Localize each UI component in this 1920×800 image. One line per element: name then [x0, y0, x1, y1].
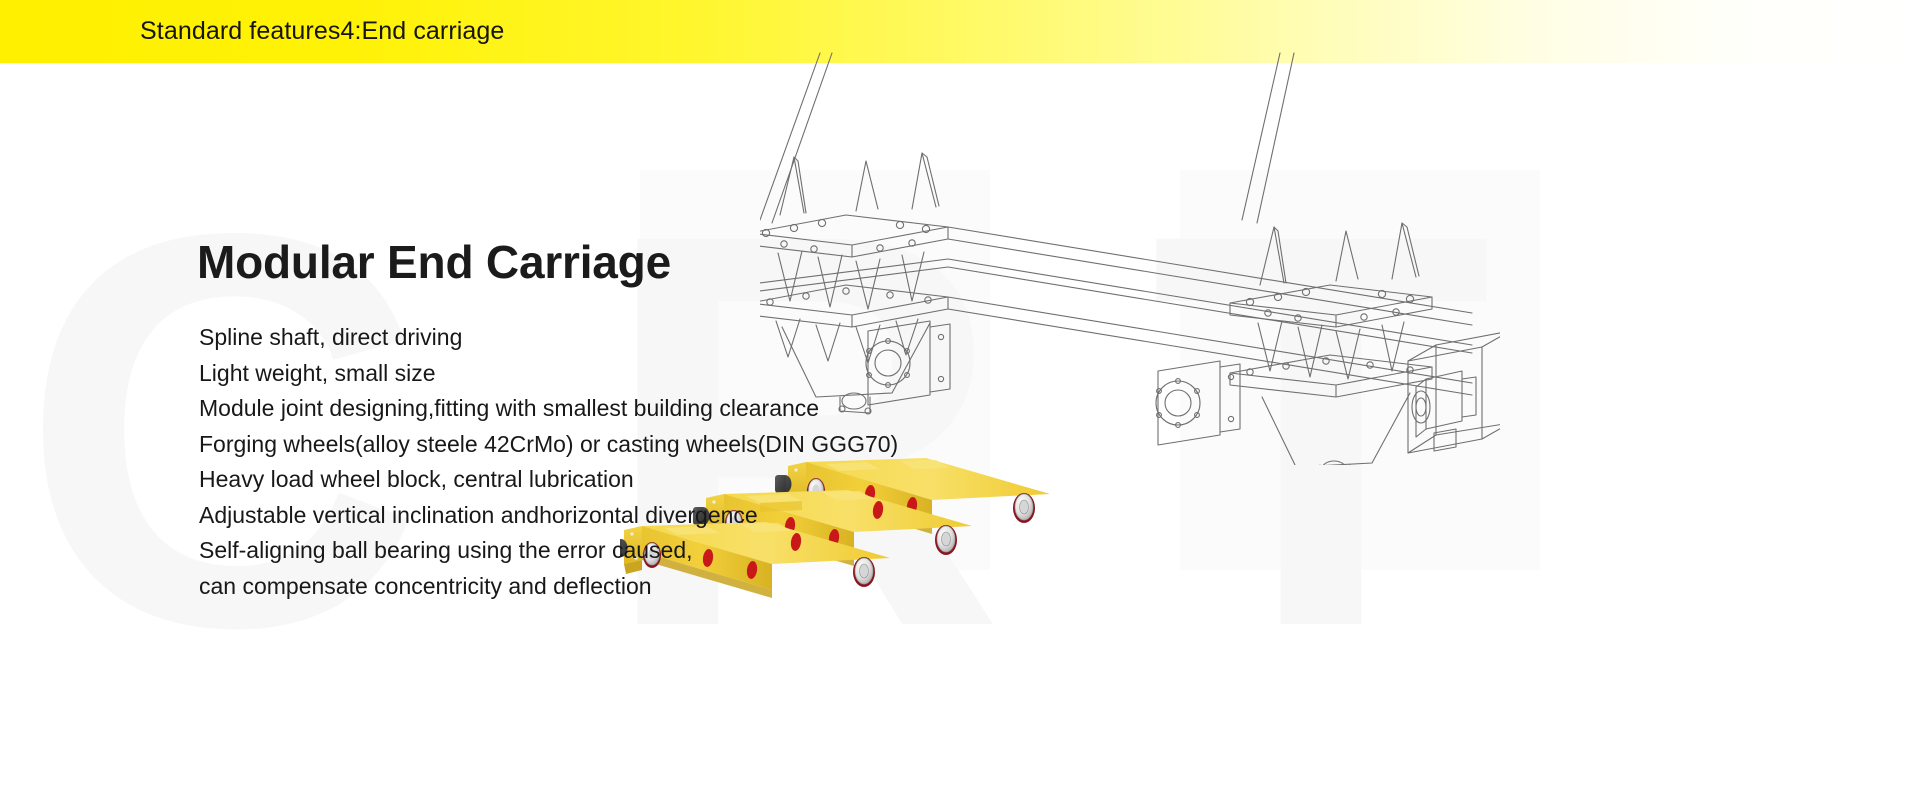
- list-item: can compensate concentricity and deflect…: [199, 569, 898, 605]
- list-item: Heavy load wheel block, central lubricat…: [199, 462, 898, 498]
- list-item: Adjustable vertical inclination andhoriz…: [199, 498, 898, 534]
- list-item: Forging wheels(alloy steele 42CrMo) or c…: [199, 427, 898, 463]
- watermark-band-right: [1180, 170, 1540, 570]
- header-title: Standard features4:End carriage: [140, 0, 504, 63]
- list-item: Module joint designing,fitting with smal…: [199, 391, 898, 427]
- page-title: Modular End Carriage: [197, 235, 671, 289]
- feature-list: Spline shaft, direct driving Light weigh…: [199, 320, 898, 604]
- slide-root: C R T Standard features4:End carriage: [0, 0, 1920, 800]
- list-item: Light weight, small size: [199, 356, 898, 392]
- list-item: Self-aligning ball bearing using the err…: [199, 533, 898, 569]
- list-item: Spline shaft, direct driving: [199, 320, 898, 356]
